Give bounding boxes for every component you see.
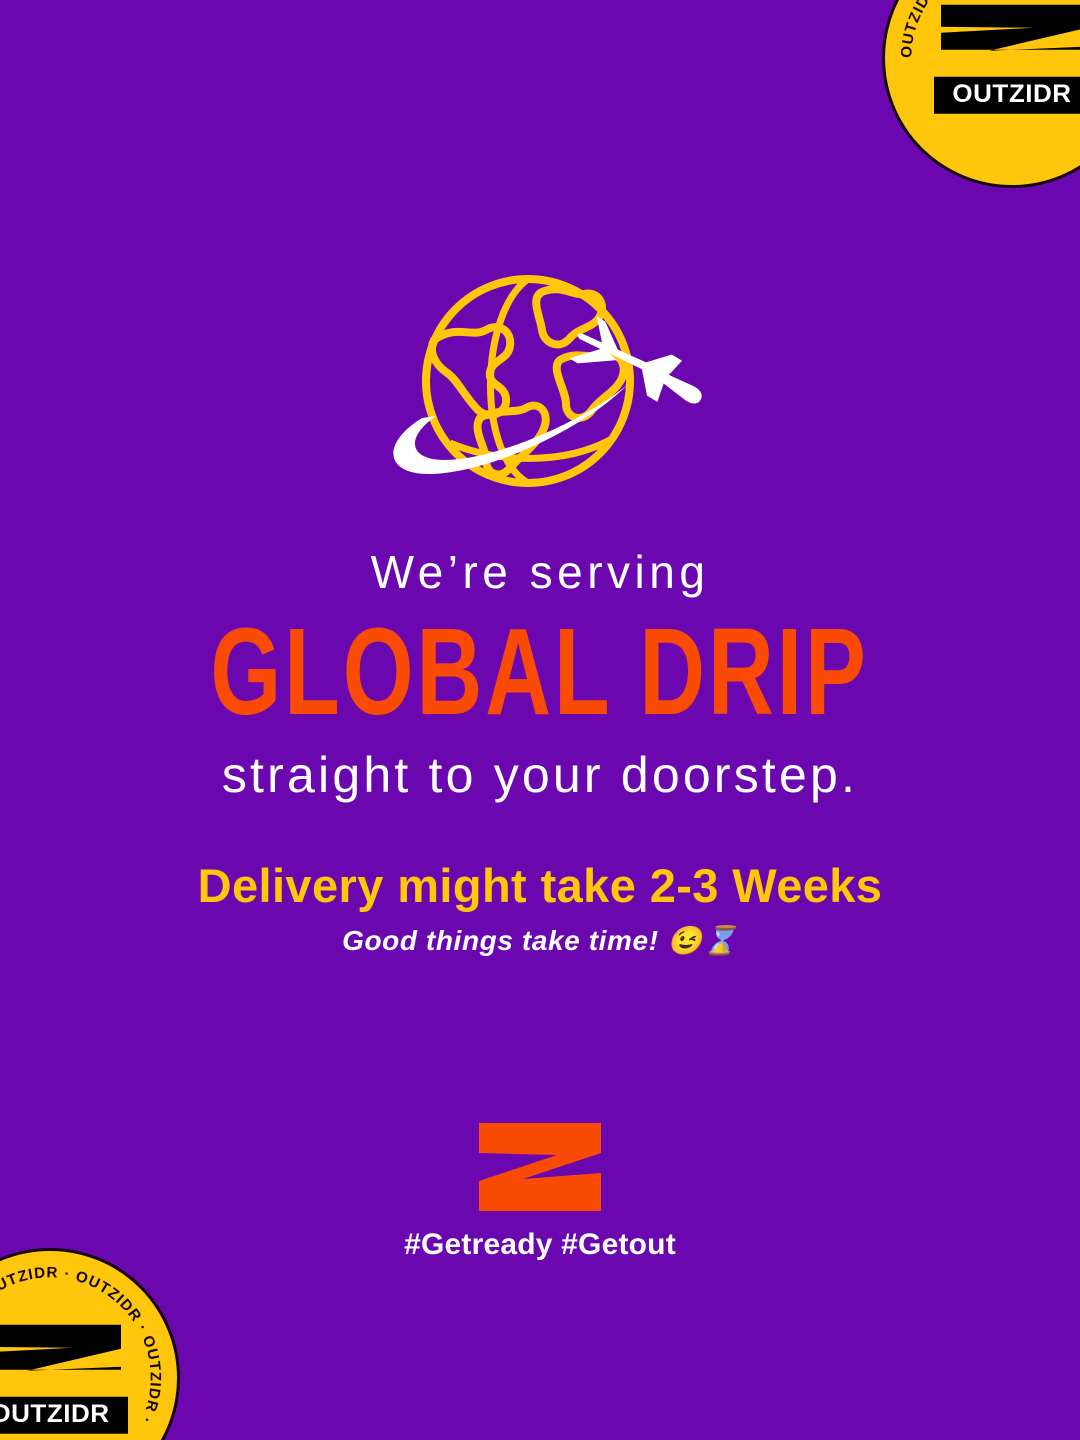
hashtags-text: #Getready #Getout xyxy=(404,1228,676,1262)
headline-subtitle: straight to your doorstep. xyxy=(222,750,858,800)
footer-branding: #Getready #Getout xyxy=(0,1123,1080,1262)
delivery-reassurance: Good things take time! 😉⌛ xyxy=(342,927,738,955)
page-title: GLOBAL DRIP xyxy=(211,611,869,734)
z-logo-icon xyxy=(479,1123,601,1211)
globe-airplane-illustration xyxy=(360,268,720,503)
delivery-notice: Delivery might take 2-3 Weeks xyxy=(198,862,883,909)
eyebrow-text: We’re serving xyxy=(371,549,710,595)
